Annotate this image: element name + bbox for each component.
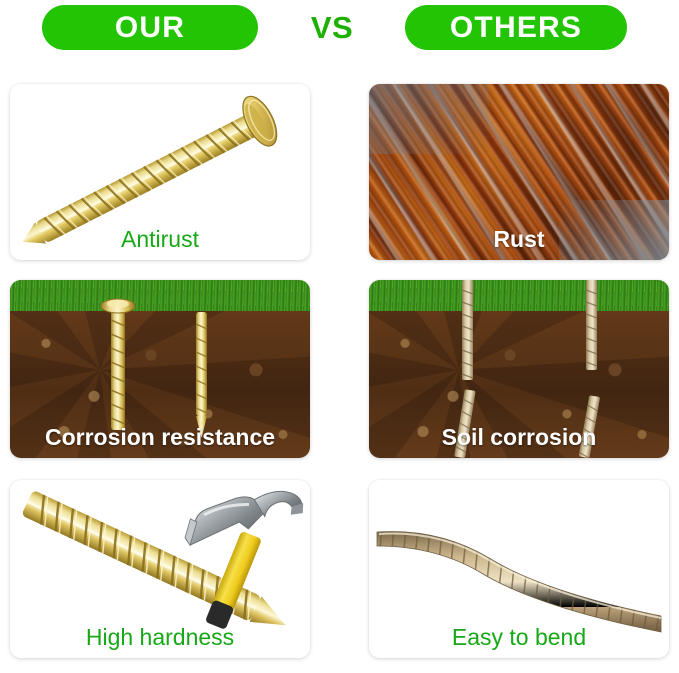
- card-corrosion-resistance: Corrosion resistance: [10, 280, 310, 458]
- comparison-grid: Antirust Rust: [0, 62, 679, 673]
- vs-label: VS: [300, 6, 364, 50]
- comparison-header: OUR VS OTHERS: [0, 0, 679, 62]
- card-easy-to-bend: Easy to bend: [369, 480, 669, 658]
- caption-antirust: Antirust: [10, 227, 310, 252]
- our-pill-label: OUR: [115, 13, 185, 43]
- caption-easy-to-bend: Easy to bend: [369, 625, 669, 650]
- our-pill: OUR: [42, 5, 258, 50]
- caption-corrosion-resistance: Corrosion resistance: [10, 425, 310, 450]
- others-pill-label: OTHERS: [450, 13, 582, 43]
- caption-soil-corrosion: Soil corrosion: [369, 425, 669, 450]
- caption-high-hardness: High hardness: [10, 625, 310, 650]
- hammer-icon: [170, 482, 310, 632]
- card-rust: Rust: [369, 84, 669, 260]
- card-antirust: Antirust: [10, 84, 310, 260]
- others-pill: OTHERS: [405, 5, 627, 50]
- rust-highlight-top-left: [369, 84, 489, 154]
- card-high-hardness: High hardness: [10, 480, 310, 658]
- caption-rust: Rust: [369, 227, 669, 252]
- card-soil-corrosion: Soil corrosion: [369, 280, 669, 458]
